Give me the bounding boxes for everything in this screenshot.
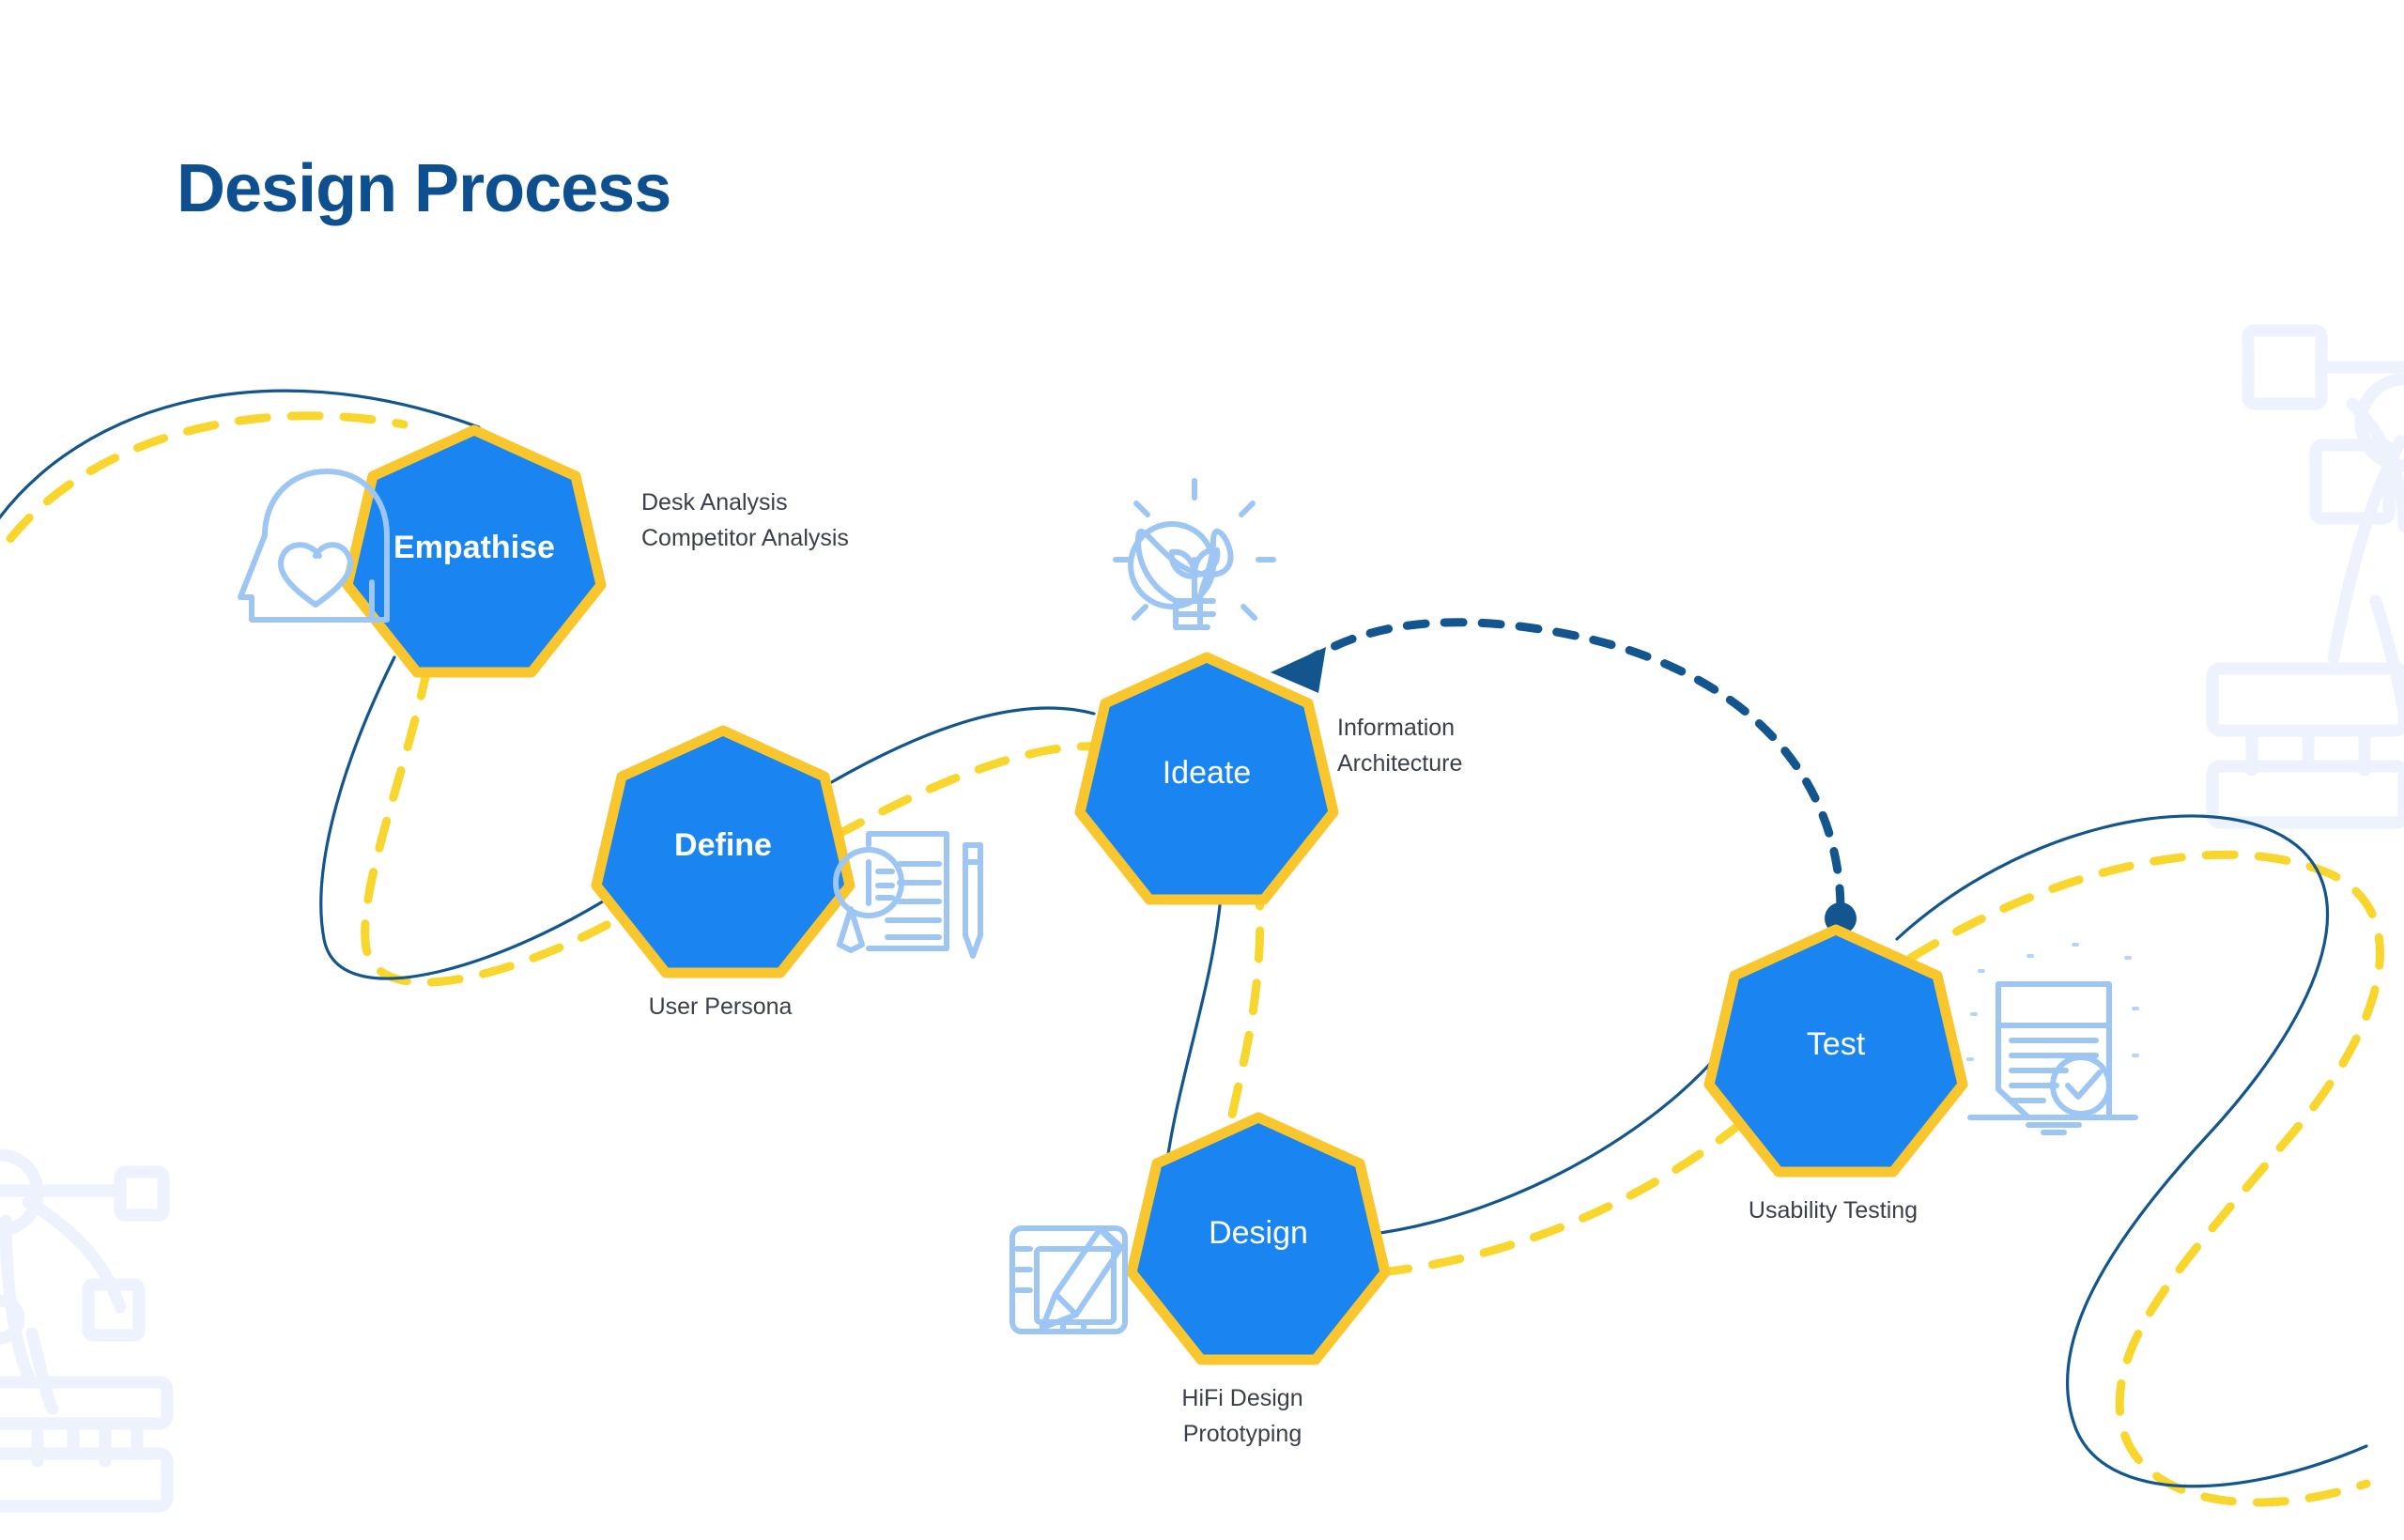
caption-test: Usability Testing: [1749, 1193, 1918, 1228]
define-label: Define: [674, 827, 772, 863]
empathise-label: Empathise: [393, 530, 555, 565]
caption-line: HiFi Design: [1181, 1380, 1302, 1416]
caption-ideate: Information Architecture: [1337, 710, 1462, 781]
design-label: Design: [1209, 1215, 1308, 1251]
stage-node-design[interactable]: Design: [1132, 1117, 1385, 1360]
stage-node-define[interactable]: Define: [596, 731, 850, 973]
lightbulb-leaf-icon: [1116, 481, 1273, 627]
caption-line: Architecture: [1337, 746, 1462, 781]
document-checkmark-icon: [1968, 945, 2137, 1132]
page-title: Design Process: [177, 150, 670, 227]
drawing-tablet-pen-icon: [1012, 1228, 1125, 1332]
stage-node-ideate[interactable]: Ideate: [1080, 657, 1333, 900]
caption-line: Competitor Analysis: [641, 520, 849, 556]
caption-line: Information: [1337, 710, 1462, 746]
test-label: Test: [1807, 1026, 1866, 1062]
diagram-canvas: Empathise Define: [0, 0, 2404, 1540]
caption-line: Usability Testing: [1749, 1193, 1918, 1228]
document-magnifier-pencil-icon: [836, 834, 980, 956]
caption-define: User Persona: [649, 989, 793, 1024]
stage-node-test[interactable]: Test: [1709, 930, 1963, 1172]
caption-empathise: Desk Analysis Competitor Analysis: [641, 485, 849, 556]
caption-design: HiFi Design Prototyping: [1181, 1380, 1302, 1452]
ideate-label: Ideate: [1163, 755, 1252, 791]
process-nodes: Empathise Define: [0, 0, 2404, 1540]
caption-line: User Persona: [649, 989, 793, 1024]
caption-line: Desk Analysis: [641, 485, 849, 520]
caption-line: Prototyping: [1181, 1416, 1302, 1452]
